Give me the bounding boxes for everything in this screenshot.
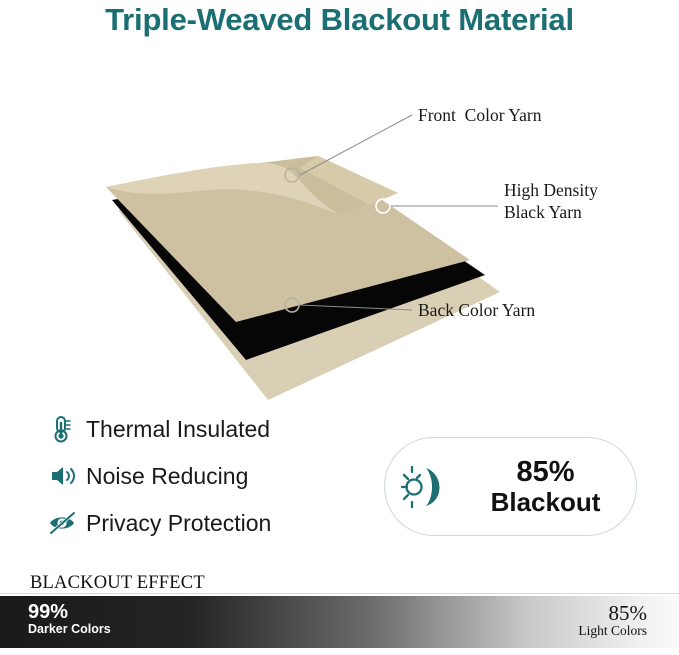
darker-colors-percent: 99%	[28, 602, 111, 623]
sun-blocked-icon	[385, 461, 463, 513]
feature-label-noise: Noise Reducing	[86, 463, 248, 490]
blackout-word: Blackout	[463, 488, 628, 516]
label-front-color-yarn: Front Color Yarn	[418, 105, 542, 127]
blackout-badge: 85% Blackout	[384, 437, 637, 536]
blackout-effect-right: 85% Light Colors	[578, 602, 647, 638]
feature-item-thermal: Thermal Insulated	[48, 408, 378, 450]
feature-label-privacy: Privacy Protection	[86, 510, 271, 537]
darker-colors-label: Darker Colors	[28, 623, 111, 636]
fabric-layers-diagram: Front Color Yarn High Density Black Yarn…	[0, 60, 679, 400]
fabric-layers-illustration	[0, 60, 679, 400]
feature-label-thermal: Thermal Insulated	[86, 416, 270, 443]
light-colors-label: Light Colors	[578, 624, 647, 638]
blackout-percent: 85%	[463, 457, 628, 488]
feature-item-privacy: Privacy Protection	[48, 502, 378, 544]
thermometer-icon	[48, 414, 86, 444]
label-high-density-black-yarn: High Density Black Yarn	[504, 180, 598, 224]
page-title: Triple-Weaved Blackout Material	[0, 2, 679, 38]
blackout-badge-text: 85% Blackout	[463, 457, 636, 516]
feature-item-noise: Noise Reducing	[48, 455, 378, 497]
eye-slash-icon	[48, 510, 86, 536]
feature-list: Thermal Insulated Noise Reducing Privacy…	[48, 408, 378, 549]
blackout-effect-heading: BLACKOUT EFFECT	[30, 573, 205, 594]
light-colors-percent: 85%	[578, 602, 647, 624]
speaker-sound-icon	[48, 463, 86, 489]
blackout-effect-left: 99% Darker Colors	[28, 602, 111, 636]
callout-line-front	[300, 115, 412, 175]
label-back-color-yarn: Back Color Yarn	[418, 300, 535, 322]
section-divider	[0, 593, 679, 594]
